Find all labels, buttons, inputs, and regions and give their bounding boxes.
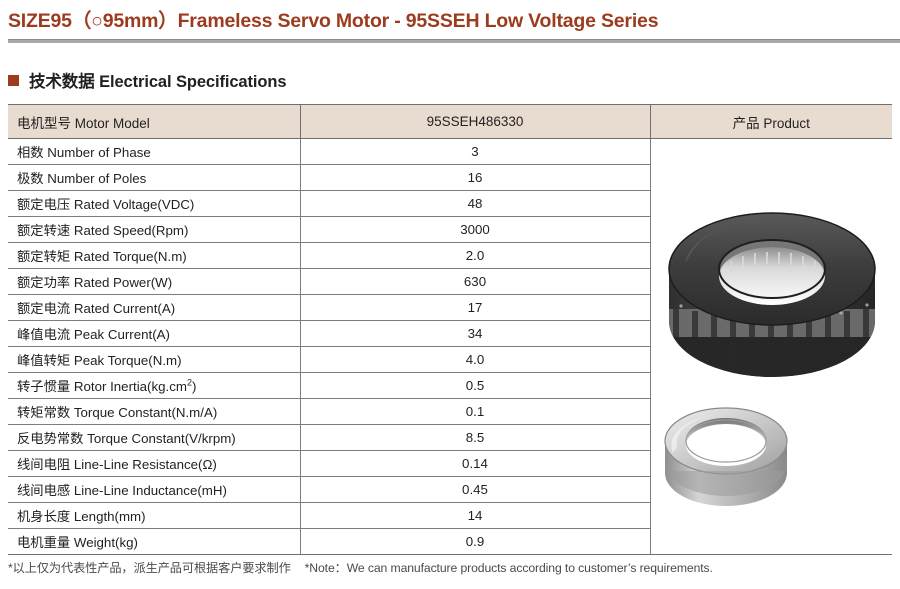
spec-value: 0.9 (300, 529, 650, 555)
section-heading-label: 技术数据 Electrical Specifications (29, 68, 286, 92)
footnote: *以上仅为代表性产品，派生产品可根据客户要求制作*Note：We can man… (8, 558, 713, 576)
spec-label: 峰值电流 Peak Current(A) (8, 321, 300, 347)
spec-value: 17 (300, 295, 650, 321)
spec-value: 0.14 (300, 451, 650, 477)
spec-label: 转子惯量 Rotor Inertia(kg.cm2) (8, 373, 300, 399)
column-header-motor-model: 电机型号 Motor Model (8, 105, 300, 139)
electrical-specifications-table-container: 电机型号 Motor Model 95SSEH486330 产品 Product… (8, 104, 892, 555)
spec-label: 额定电流 Rated Current(A) (8, 295, 300, 321)
electrical-specifications-table: 电机型号 Motor Model 95SSEH486330 产品 Product… (8, 104, 892, 555)
spec-label: 线间电感 Line-Line Inductance(mH) (8, 477, 300, 503)
footnote-chinese: *以上仅为代表性产品，派生产品可根据客户要求制作 (8, 561, 291, 575)
spec-value: 16 (300, 165, 650, 191)
stator-ring (669, 213, 875, 385)
rotor-ring (665, 408, 787, 506)
footnote-english: *Note：We can manufacture products accord… (305, 561, 713, 575)
column-header-model-number: 95SSEH486330 (300, 105, 650, 139)
spec-value: 48 (300, 191, 650, 217)
spec-label: 相数 Number of Phase (8, 139, 300, 165)
spec-label: 额定功率 Rated Power(W) (8, 269, 300, 295)
spec-value: 2.0 (300, 243, 650, 269)
spec-label: 额定转矩 Rated Torque(N.m) (8, 243, 300, 269)
spec-label: 反电势常数 Torque Constant(V/krpm) (8, 425, 300, 451)
spec-label: 线间电阻 Line-Line Resistance(Ω) (8, 451, 300, 477)
spec-value: 0.1 (300, 399, 650, 425)
spec-label: 电机重量 Weight(kg) (8, 529, 300, 555)
spec-value: 34 (300, 321, 650, 347)
section-heading: 技术数据 Electrical Specifications (8, 68, 900, 92)
column-header-product: 产品 Product (650, 105, 892, 139)
spec-label: 额定转速 Rated Speed(Rpm) (8, 217, 300, 243)
spec-value: 3 (300, 139, 650, 165)
spec-value: 630 (300, 269, 650, 295)
page-title: SIZE95（○95mm）Frameless Servo Motor - 95S… (8, 9, 900, 33)
spec-value: 4.0 (300, 347, 650, 373)
spec-label: 转矩常数 Torque Constant(N.m/A) (8, 399, 300, 425)
square-bullet-icon (8, 75, 19, 86)
title-divider (8, 39, 900, 43)
spec-value: 14 (300, 503, 650, 529)
table-row: 相数 Number of Phase3 (8, 139, 892, 165)
spec-label: 极数 Number of Poles (8, 165, 300, 191)
product-image-cell (650, 139, 892, 555)
product-image-stage (651, 141, 893, 553)
spec-label: 机身长度 Length(mm) (8, 503, 300, 529)
spec-value: 8.5 (300, 425, 650, 451)
table-header-row: 电机型号 Motor Model 95SSEH486330 产品 Product (8, 105, 892, 139)
spec-label: 额定电压 Rated Voltage(VDC) (8, 191, 300, 217)
table-body: 相数 Number of Phase3 (8, 139, 892, 555)
document-header: SIZE95（○95mm）Frameless Servo Motor - 95S… (0, 0, 900, 43)
spec-label: 峰值转矩 Peak Torque(N.m) (8, 347, 300, 373)
spec-value: 0.45 (300, 477, 650, 503)
spec-value: 0.5 (300, 373, 650, 399)
frameless-motor-photo (651, 141, 893, 553)
spec-value: 3000 (300, 217, 650, 243)
